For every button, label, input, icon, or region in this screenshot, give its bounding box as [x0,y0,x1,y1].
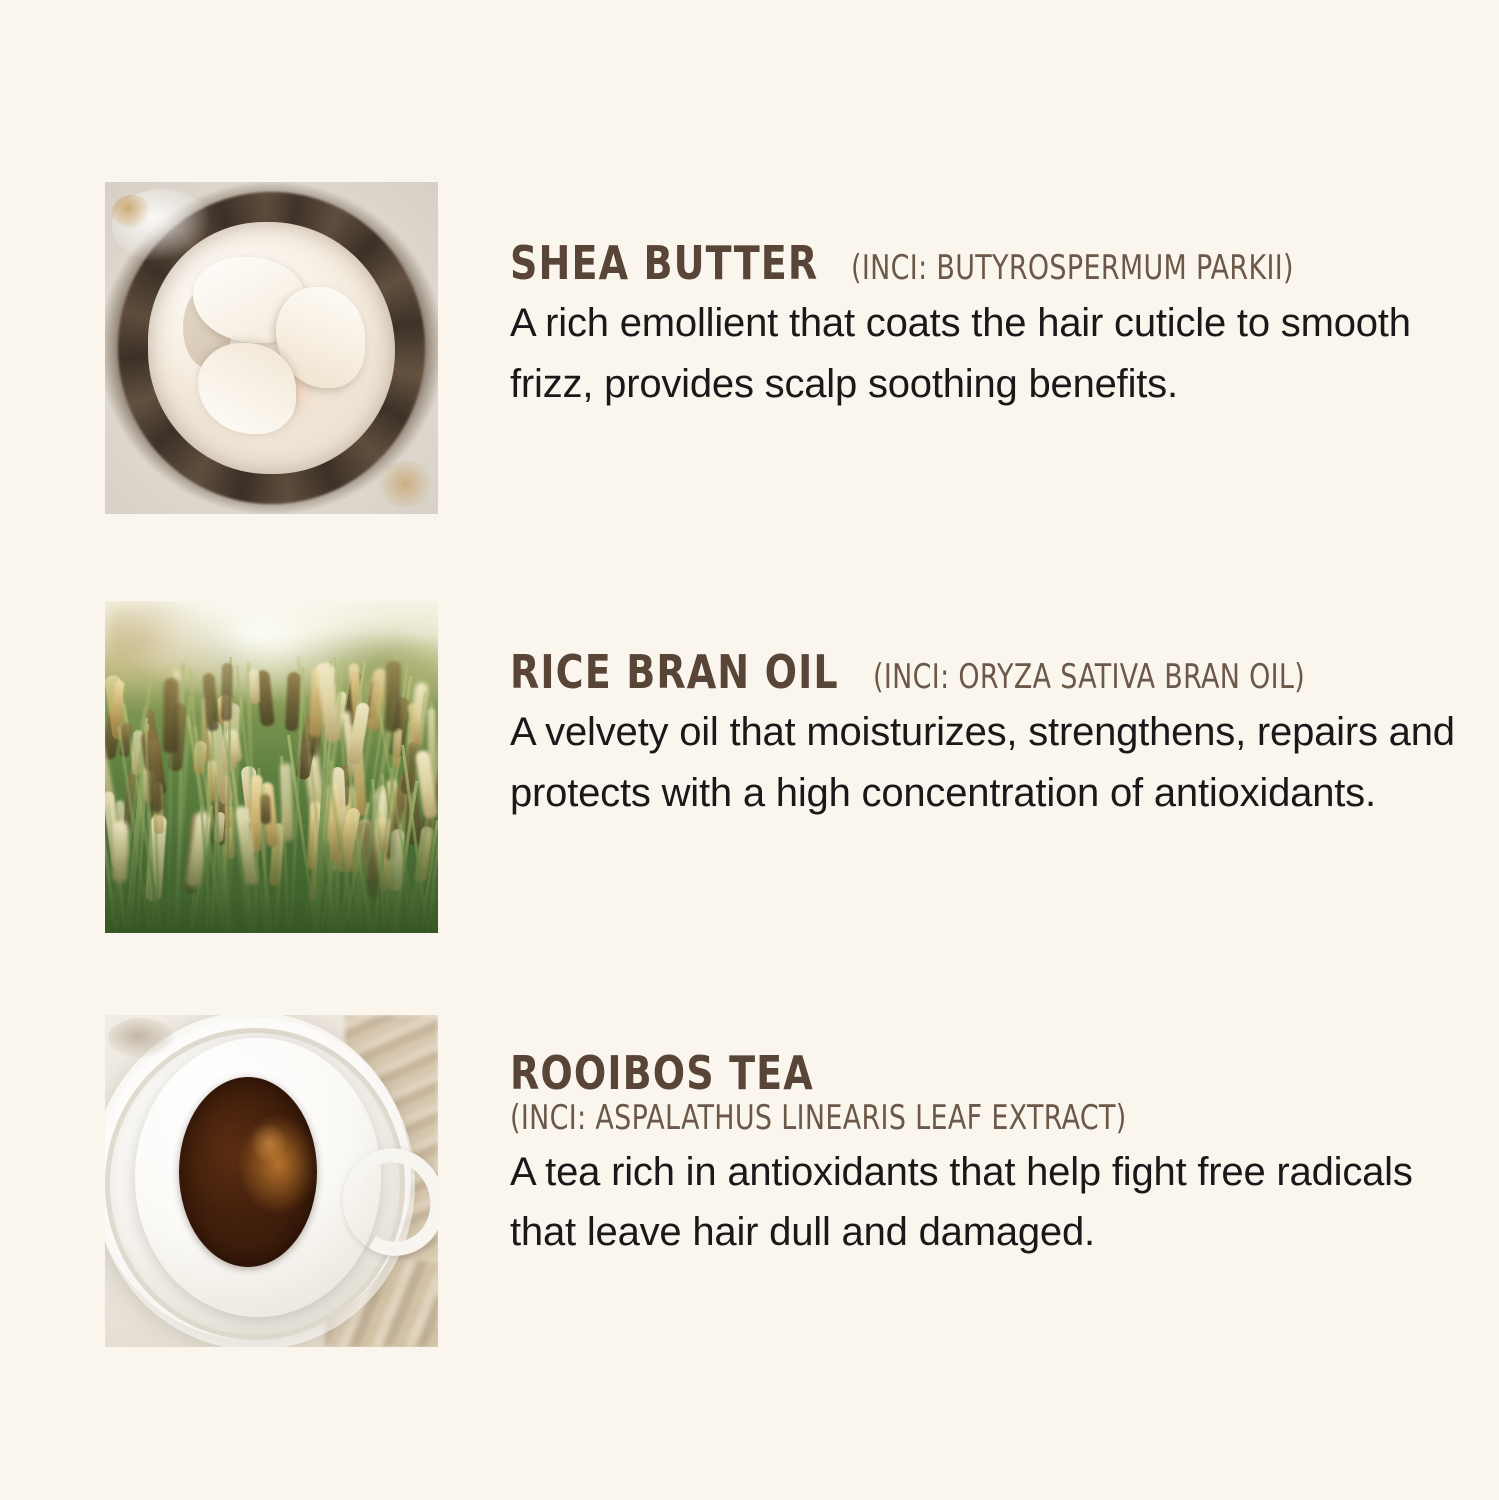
ingredient-inci: (INCI: BUTYROSPERMUM PARKII) [851,251,1294,286]
teacup [135,1038,381,1317]
grass-seed-head [163,678,179,754]
ingredient-image-rooibos-tea [105,1015,438,1347]
ingredient-heading: RICE BRAN OIL(INCI: ORYZA SATIVA BRAN OI… [510,649,1455,696]
ingredient-text-rice-bran-oil: RICE BRAN OIL(INCI: ORYZA SATIVA BRAN OI… [510,601,1455,824]
ingredient-name: ROOIBOS TEA [510,1050,814,1097]
ingredient-benefits-panel: SHEA BUTTER(INCI: BUTYROSPERMUM PARKII) … [0,0,1499,1500]
shea-butter-photo [105,182,438,514]
ingredient-heading: SHEA BUTTER(INCI: BUTYROSPERMUM PARKII) [510,240,1455,287]
butter-mass [148,222,394,474]
grass-seed-head [221,663,233,721]
ingredient-description: A tea rich in antioxidants that help fig… [510,1142,1455,1264]
foreground-shadow [105,820,438,933]
ingredient-row-shea-butter: SHEA BUTTER(INCI: BUTYROSPERMUM PARKII) … [105,182,1455,514]
grass-seed-head [385,661,401,733]
ingredient-row-rooibos-tea: ROOIBOS TEA(INCI: ASPALATHUS LINEARIS LE… [105,1015,1455,1347]
tea-liquid [179,1077,317,1267]
rice-grass-field-photo [105,601,438,933]
tea-highlight [251,1123,287,1165]
ingredient-name: RICE BRAN OIL [510,649,839,696]
ingredient-image-rice-bran-oil [105,601,438,933]
ingredient-description: A velvety oil that moisturizes, strength… [510,702,1455,824]
ingredient-text-rooibos-tea: ROOIBOS TEA(INCI: ASPALATHUS LINEARIS LE… [510,1015,1455,1263]
butter-chunk [198,343,297,434]
grass-seed-head [249,669,260,704]
crumb [112,195,152,228]
ingredient-image-shea-butter [105,182,438,514]
ingredient-inci: (INCI: ORYZA SATIVA BRAN OIL) [873,660,1305,695]
ingredient-inci: (INCI: ASPALATHUS LINEARIS LEAF EXTRACT) [510,1101,1342,1136]
ingredient-row-rice-bran-oil: RICE BRAN OIL(INCI: ORYZA SATIVA BRAN OI… [105,601,1455,933]
ingredient-heading: ROOIBOS TEA(INCI: ASPALATHUS LINEARIS LE… [510,1050,1455,1136]
rooibos-tea-photo [105,1015,438,1347]
ingredient-text-shea-butter: SHEA BUTTER(INCI: BUTYROSPERMUM PARKII) … [510,182,1455,415]
ingredient-description: A rich emollient that coats the hair cut… [510,293,1455,415]
utensil [108,1018,175,1058]
crumb [375,461,435,507]
ingredient-name: SHEA BUTTER [510,240,818,287]
